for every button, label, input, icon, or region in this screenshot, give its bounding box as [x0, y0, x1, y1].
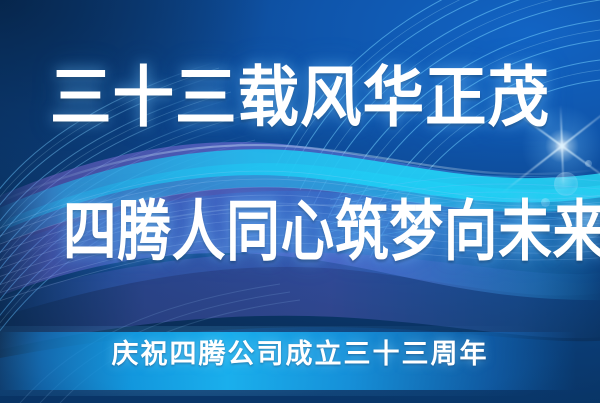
subtitle-text: 庆祝四腾公司成立三十三周年	[0, 339, 600, 369]
headline-line-1: 三十三载风华正茂	[0, 62, 600, 132]
anniversary-banner: 三十三载风华正茂 四腾人同心筑梦向未来 庆祝四腾公司成立三十三周年	[0, 0, 600, 403]
headline-line-2: 四腾人同心筑梦向未来	[0, 196, 600, 266]
